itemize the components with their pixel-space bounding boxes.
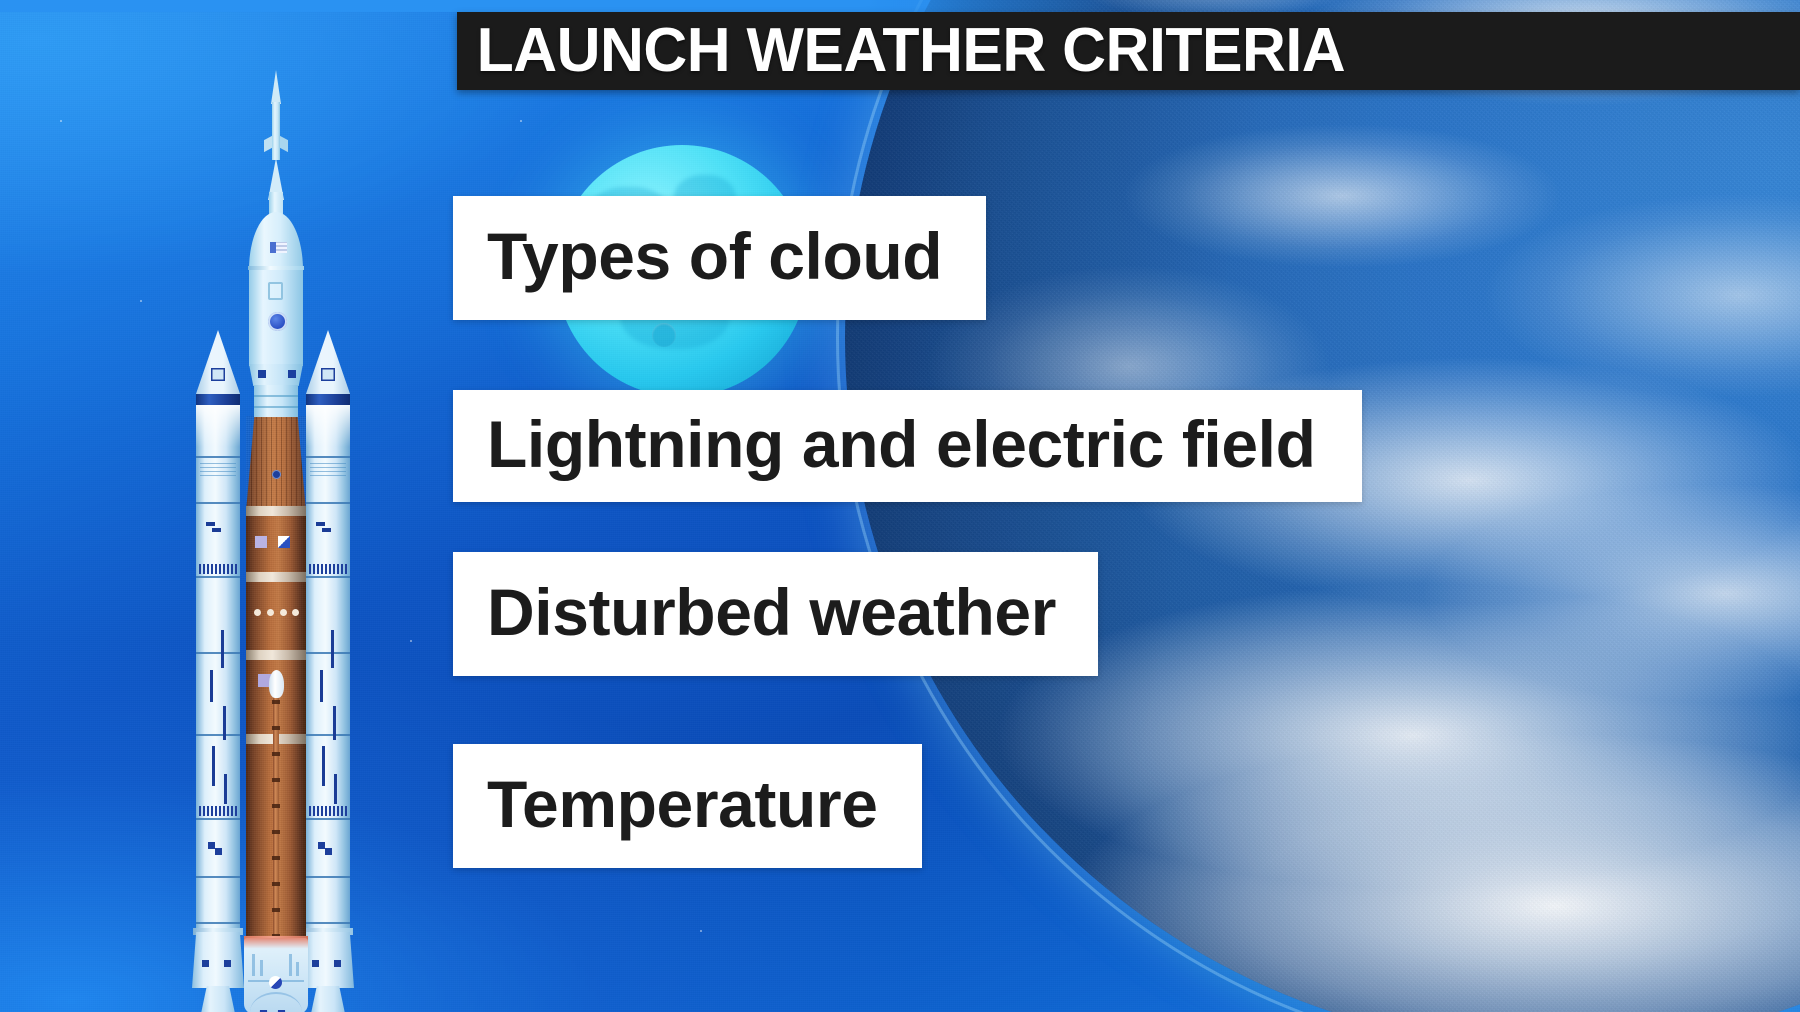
capsule-marking-left — [258, 370, 266, 378]
booster-highlight-left — [196, 405, 240, 447]
graphic-canvas: LAUNCH WEATHER CRITERIA Types of cloud L… — [0, 0, 1800, 1012]
launch-abort-tower-fin-right — [280, 136, 288, 152]
core-stage-marking-a — [255, 536, 267, 548]
criteria-item-types-of-cloud: Types of cloud — [453, 196, 986, 320]
orion-hatch — [268, 282, 283, 300]
core-stage-marking-b — [278, 536, 290, 548]
page-title: LAUNCH WEATHER CRITERIA — [457, 20, 1345, 82]
booster-body-right — [306, 405, 350, 940]
core-stage-feedline-dome — [269, 670, 284, 698]
criteria-item-lightning-and-electric-field: Lightning and electric field — [453, 390, 1362, 502]
core-stage-band-2 — [246, 572, 306, 582]
criteria-item-disturbed-weather: Disturbed weather — [453, 552, 1098, 676]
stage-adapter-line-2 — [254, 406, 298, 408]
core-stage-band-1 — [246, 506, 306, 516]
booster-body-left — [196, 405, 240, 940]
us-flag-icon — [270, 242, 287, 253]
booster-badge-left — [211, 368, 225, 381]
booster-aft-skirt-left — [192, 932, 244, 988]
launch-abort-motor-stem — [269, 192, 283, 214]
core-stage-port — [272, 470, 281, 479]
booster-dark-band-right — [306, 394, 350, 405]
launch-abort-tower-fin-left — [264, 136, 272, 152]
booster-highlight-right — [306, 405, 350, 447]
booster-badge-right — [321, 368, 335, 381]
title-banner: LAUNCH WEATHER CRITERIA — [457, 12, 1800, 90]
core-stage-feedline-brackets — [272, 692, 280, 938]
stage-adapter — [254, 385, 298, 417]
core-stage-band-3 — [246, 650, 306, 660]
core-stage-aft-marking — [269, 976, 282, 989]
nasa-insignia-icon — [268, 312, 287, 331]
criteria-label: Temperature — [487, 770, 878, 838]
criteria-label: Disturbed weather — [487, 578, 1056, 646]
capsule-marking-right — [288, 370, 296, 378]
criteria-label: Types of cloud — [487, 222, 942, 290]
stage-adapter-line-1 — [254, 395, 298, 397]
criteria-item-temperature: Temperature — [453, 744, 922, 868]
space-launch-system-rocket — [176, 70, 376, 970]
booster-dark-band-left — [196, 394, 240, 405]
launch-abort-tower-rod — [272, 102, 280, 160]
launch-abort-tower-spike — [271, 70, 281, 104]
booster-aft-skirt-right — [302, 932, 354, 988]
criteria-label: Lightning and electric field — [487, 410, 1316, 478]
core-stage-dot-row — [254, 609, 298, 616]
